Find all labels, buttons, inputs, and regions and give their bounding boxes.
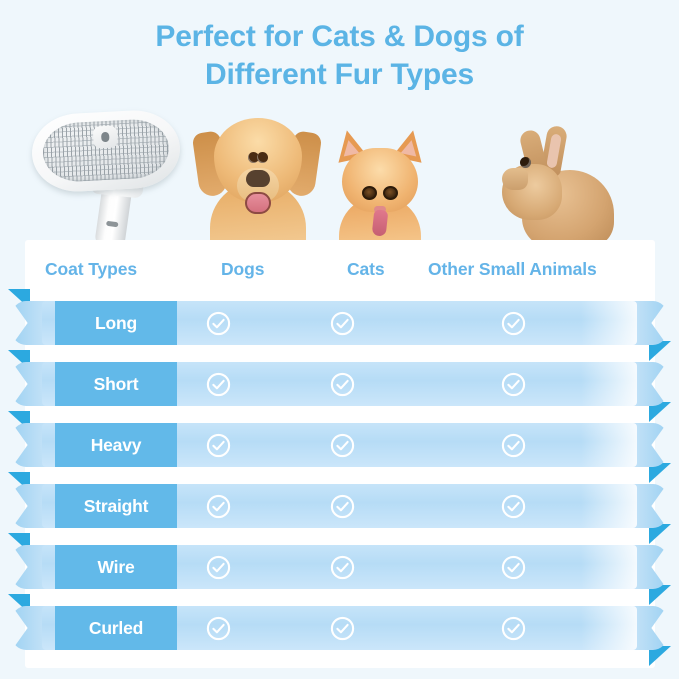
check-circle-icon-dogs: [206, 494, 231, 519]
check-circle-icon-cats: [330, 494, 355, 519]
coat-type-chip: Curled: [55, 606, 177, 650]
ribbon-bar: Curled: [42, 606, 637, 650]
table-row: Long: [0, 299, 679, 360]
table-header-cats: Cats: [347, 259, 385, 280]
table-row: Curled: [0, 604, 679, 665]
coat-type-label: Long: [95, 313, 137, 334]
table-row: Short: [0, 360, 679, 421]
dog-head: [214, 118, 302, 202]
ribbon-bar: Wire: [42, 545, 637, 589]
coat-type-label: Wire: [98, 557, 135, 578]
ribbon-bar: Long: [42, 301, 637, 345]
rabbit-head: [502, 164, 562, 220]
ribbon-bar: Straight: [42, 484, 637, 528]
brush-handle-slot: [106, 221, 119, 228]
cat-image: [331, 126, 429, 248]
table-header-coat-types: Coat Types: [45, 259, 137, 280]
rabbit-image: [500, 116, 614, 248]
page-title: Perfect for Cats & Dogs of Different Fur…: [0, 18, 679, 95]
check-circle-icon-other-small-animals: [501, 433, 526, 458]
brush-release-button: [93, 125, 118, 148]
check-circle-icon-other-small-animals: [501, 372, 526, 397]
cat-eye-right: [383, 186, 398, 200]
check-circle-icon-cats: [330, 616, 355, 641]
coat-type-chip: Heavy: [55, 423, 177, 467]
dog-tongue: [245, 192, 271, 214]
table-header-dogs: Dogs: [221, 259, 264, 280]
table-body: Long Short Heavy Straight Wire Curled: [0, 299, 679, 665]
coat-type-label: Short: [94, 374, 139, 395]
check-circle-icon-cats: [330, 555, 355, 580]
check-circle-icon-other-small-animals: [501, 616, 526, 641]
coat-type-chip: Wire: [55, 545, 177, 589]
hero-image-strip: [0, 96, 679, 248]
table-row: Heavy: [0, 421, 679, 482]
grooming-brush-image: [30, 108, 200, 248]
check-circle-icon-other-small-animals: [501, 494, 526, 519]
page-title-line-1: Perfect for Cats & Dogs of: [0, 18, 679, 56]
coat-type-chip: Long: [55, 301, 177, 345]
check-circle-icon-dogs: [206, 311, 231, 336]
ribbon-bar: Heavy: [42, 423, 637, 467]
check-circle-icon-cats: [330, 311, 355, 336]
dog-nose: [246, 170, 270, 187]
check-circle-icon-cats: [330, 372, 355, 397]
table-header-row: Coat Types Dogs Cats Other Small Animals: [25, 255, 655, 295]
check-circle-icon-other-small-animals: [501, 311, 526, 336]
table-row: Straight: [0, 482, 679, 543]
check-circle-icon-dogs: [206, 372, 231, 397]
brush-head: [30, 108, 182, 194]
coat-type-label: Straight: [84, 496, 149, 517]
page-title-line-2: Different Fur Types: [0, 56, 679, 94]
cat-head: [342, 148, 418, 212]
check-circle-icon-dogs: [206, 555, 231, 580]
cat-eye-left: [362, 186, 377, 200]
dog-eye-right: [257, 152, 268, 163]
table-row: Wire: [0, 543, 679, 604]
coat-type-chip: Straight: [55, 484, 177, 528]
check-circle-icon-dogs: [206, 433, 231, 458]
rabbit-eye: [520, 157, 531, 168]
check-circle-icon-other-small-animals: [501, 555, 526, 580]
coat-type-label: Curled: [89, 618, 143, 639]
dog-image: [196, 102, 318, 248]
ribbon-bar: Short: [42, 362, 637, 406]
rabbit-snout: [502, 168, 528, 190]
check-circle-icon-cats: [330, 433, 355, 458]
coat-type-label: Heavy: [91, 435, 142, 456]
check-circle-icon-dogs: [206, 616, 231, 641]
table-header-other-small-animals: Other Small Animals: [428, 259, 597, 280]
coat-type-chip: Short: [55, 362, 177, 406]
